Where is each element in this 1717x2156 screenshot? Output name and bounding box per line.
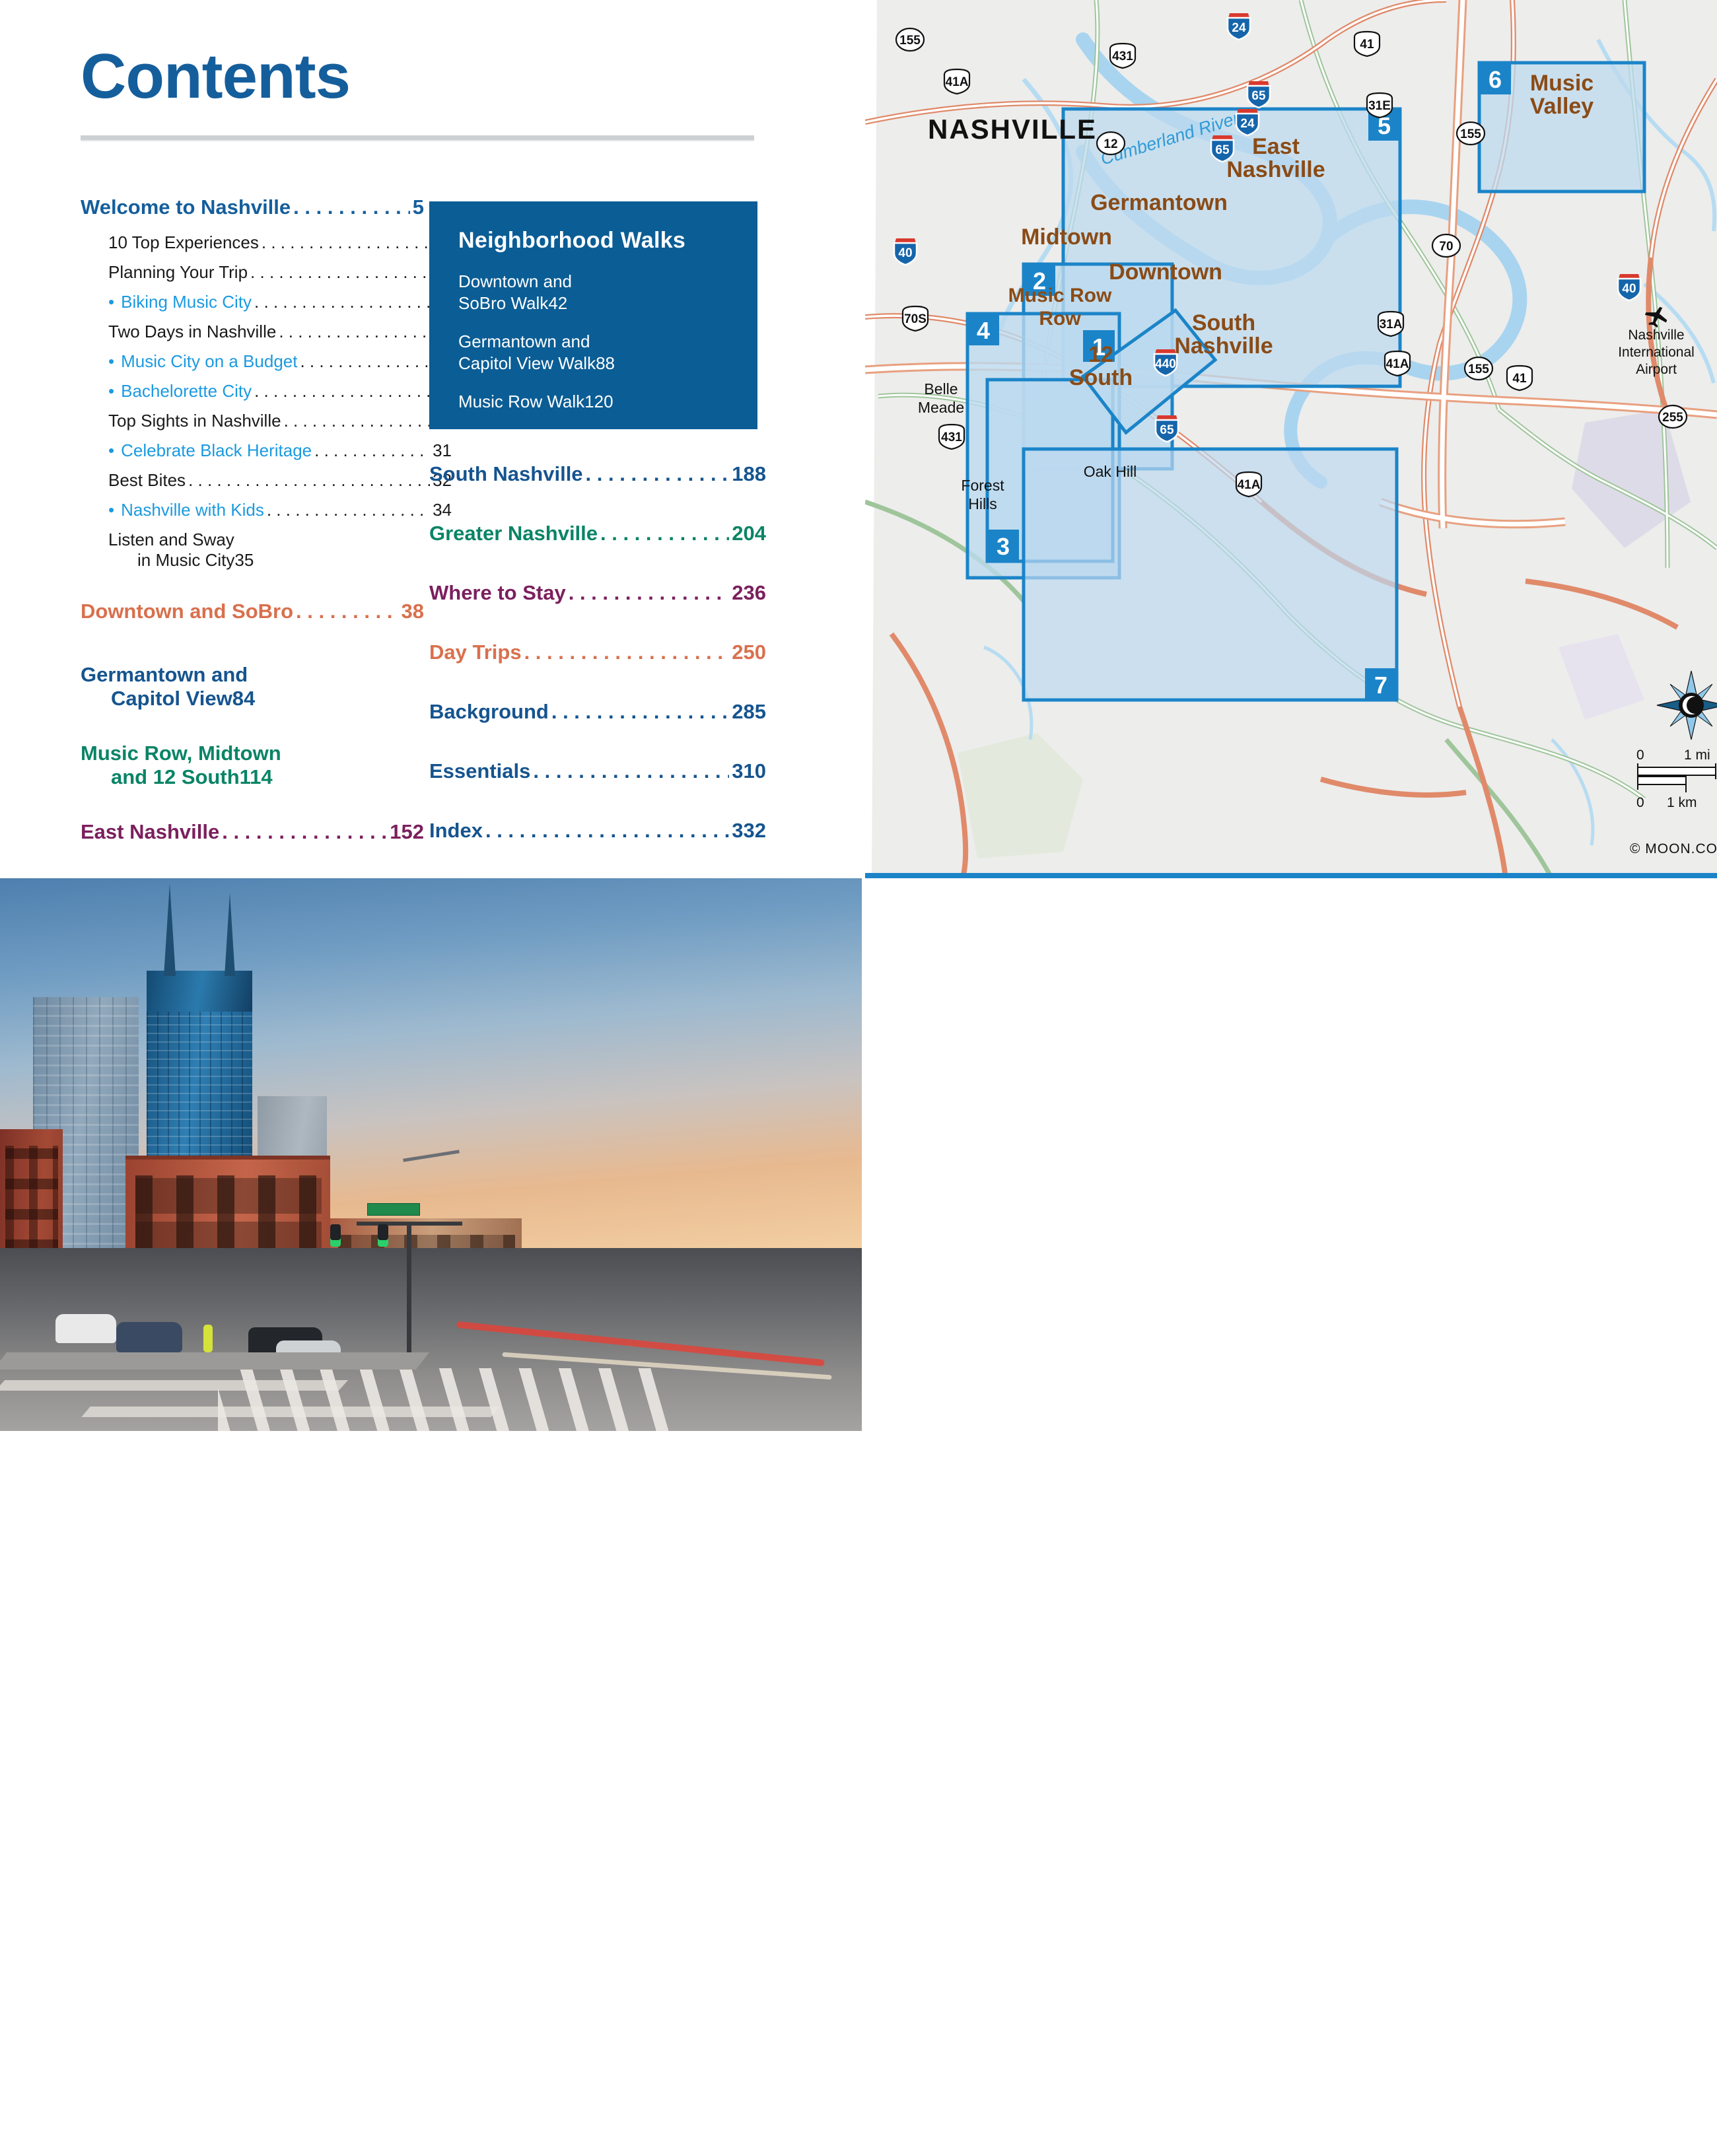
svg-text:431: 431 <box>941 431 962 444</box>
toc-entry-label: Essentials <box>429 759 530 783</box>
leader-dots <box>188 480 430 497</box>
toc-entry-major[interactable]: Essentials310 <box>429 759 766 792</box>
map-label-12south-2: South <box>1069 365 1133 390</box>
map-label-east-nashville-1: East <box>1252 134 1300 159</box>
spacer <box>429 618 766 641</box>
highway-shield-65: 65 <box>1156 415 1178 442</box>
leader-dots <box>267 510 430 527</box>
svg-text:155: 155 <box>899 34 921 48</box>
highway-shield-70S: 70S <box>903 306 928 331</box>
toc-entry-label: Welcome to Nashville <box>81 195 291 219</box>
att-building-top <box>147 971 252 1012</box>
traffic-light-green-2 <box>378 1224 388 1247</box>
toc-entry-page: 310 <box>732 759 766 783</box>
toc-entry-page: 35 <box>234 550 254 571</box>
spacer <box>81 637 424 663</box>
neighborhood-walks-list: Downtown andSoBro Walk42Germantown andCa… <box>429 271 757 413</box>
map-town-oak-hill: Oak Hill <box>1084 463 1137 480</box>
map-label-12south-1: 12 <box>1088 342 1113 367</box>
toc-entry-page: 332 <box>732 819 766 843</box>
toc-entry-major[interactable]: Germantown andCapitol View84 <box>81 663 424 711</box>
map-label-music-valley-1: Music <box>1530 71 1594 96</box>
toc-column-left: Welcome to Nashville510 Top Experiences7… <box>81 195 424 921</box>
highway-shield-40: 40 <box>894 238 917 265</box>
walk-page: 120 <box>584 391 613 413</box>
svg-text:40: 40 <box>1622 282 1636 296</box>
maps-index-panel: MAPS 1Downtownand SoBro40-412Germantowna… <box>862 878 1717 1431</box>
toc-entry-label: Bachelorette City <box>121 381 252 401</box>
svg-text:41A: 41A <box>1238 478 1261 492</box>
leader-dots <box>250 272 430 289</box>
highway-shield-12: 12 <box>1097 132 1125 155</box>
map-label-south-nashville-2: Nashville <box>1174 333 1273 359</box>
toc-entry-major[interactable]: Where to Stay236 <box>429 581 766 613</box>
toc-entry-label: Best Bites <box>108 470 186 491</box>
svg-text:65: 65 <box>1215 143 1230 157</box>
pedestrian <box>203 1325 213 1352</box>
highway-shield-40: 40 <box>1618 274 1640 300</box>
neighborhood-walks-title: Neighborhood Walks <box>429 201 757 254</box>
highway-shield-24: 24 <box>1236 109 1259 135</box>
toc-entry-label: Index <box>429 819 483 843</box>
toc-entry-label: Top Sights in Nashville <box>108 411 281 431</box>
leader-dots <box>279 331 430 349</box>
scale-zero-top: 0 <box>1636 748 1644 763</box>
toc-entry-label: Biking Music City <box>121 292 252 312</box>
svg-text:41A: 41A <box>946 75 969 89</box>
toc-entry-label-line2: and 12 South <box>111 765 240 789</box>
toc-entry-highlight[interactable]: •Nashville with Kids34 <box>81 500 452 527</box>
walk-page: 88 <box>596 353 615 374</box>
traffic-signal-pole <box>407 1222 411 1354</box>
spacer <box>429 737 766 759</box>
highway-shield-440: 440 <box>1154 349 1177 376</box>
svg-text:255: 255 <box>1662 411 1683 425</box>
highway-shield-31A: 31A <box>1378 312 1403 336</box>
toc-entry-label: 10 Top Experiences <box>108 232 259 253</box>
map-town-belle-meade-2: Meade <box>918 399 964 416</box>
svg-text:40: 40 <box>898 246 912 260</box>
toc-entry-major[interactable]: Background285 <box>429 700 766 732</box>
leader-dots <box>296 611 398 632</box>
toc-entry-page: 204 <box>732 522 766 545</box>
toc-entry-highlight[interactable]: •Biking Music City20 <box>81 292 452 319</box>
toc-entry-sub[interactable]: 10 Top Experiences7 <box>81 232 452 260</box>
walk-label-line1: Germantown and <box>458 331 738 353</box>
bullet-icon: • <box>108 292 114 312</box>
leader-dots <box>284 421 431 438</box>
toc-entry-label-line1: Music Row, Midtown <box>81 742 424 765</box>
spacer <box>429 678 766 700</box>
toc-entry-label: Day Trips <box>429 641 522 664</box>
map-label-music-valley-2: Valley <box>1530 94 1594 119</box>
toc-entry-page: 285 <box>732 700 766 724</box>
toc-entry-page: 31 <box>433 440 452 461</box>
att-spire-left <box>164 884 176 976</box>
leader-dots <box>300 361 430 378</box>
highway-shield-24: 24 <box>1228 13 1250 40</box>
map-label-music-row-2: Row <box>1039 308 1081 330</box>
leader-dots <box>293 207 410 228</box>
leader-dots <box>262 242 440 260</box>
map-label-south-nashville-1: South <box>1192 310 1255 335</box>
walk-label-line2: Capitol View Walk <box>458 353 596 374</box>
inset-number-6: 6 <box>1489 66 1502 93</box>
toc-entry-label: Where to Stay <box>429 581 566 605</box>
highway-shield-431: 431 <box>939 425 964 449</box>
toc-entry-page: 152 <box>390 820 424 844</box>
svg-text:12: 12 <box>1104 137 1117 151</box>
leader-dots <box>586 474 730 495</box>
sidewalk <box>0 1352 429 1370</box>
inset-box-7 <box>1024 449 1397 700</box>
bullet-icon: • <box>108 440 114 461</box>
walk-label-line2: SoBro Walk <box>458 293 548 314</box>
svg-text:41: 41 <box>1512 372 1527 386</box>
bullet-icon: • <box>108 351 114 372</box>
leader-dots <box>569 593 730 613</box>
spacer <box>81 715 424 742</box>
highway-shield-431: 431 <box>1110 44 1135 68</box>
toc-entry-sub[interactable]: Best Bites32 <box>81 470 452 497</box>
car-blue <box>116 1322 182 1352</box>
toc-entry-label: Music City on a Budget <box>121 351 297 372</box>
map-svg: 1 2 3 4 5 6 7 NASHVILLE Cumberland River… <box>865 0 1717 878</box>
bullet-icon: • <box>108 500 114 520</box>
toc-entry-page: 236 <box>732 581 766 605</box>
toc-entry-label: East Nashville <box>81 820 219 844</box>
highway-shield-155: 155 <box>896 28 924 51</box>
map-label-midtown: Midtown <box>1021 225 1112 250</box>
highway-shield-255: 255 <box>1659 405 1687 428</box>
leader-dots <box>485 831 729 851</box>
toc-entry-sub[interactable]: Top Sights in Nashville29 <box>81 411 452 438</box>
highway-shield-31E: 31E <box>1367 93 1392 118</box>
leader-dots <box>600 534 729 554</box>
toc-entry-label: South Nashville <box>429 462 583 486</box>
walk-label-line1: Downtown and <box>458 271 738 293</box>
toc-entry-label: Greater Nashville <box>429 522 598 545</box>
inset-number-7: 7 <box>1374 672 1387 699</box>
toc-entry-page: 250 <box>732 641 766 664</box>
inset-number-3: 3 <box>997 533 1010 560</box>
leader-dots <box>254 391 430 408</box>
highway-shield-65: 65 <box>1211 135 1234 162</box>
toc-entry-page: 114 <box>240 765 273 789</box>
page-title: Contents <box>81 45 350 108</box>
toc-entry-label: Two Days in Nashville <box>108 322 276 342</box>
svg-text:431: 431 <box>1112 50 1133 63</box>
highway-shield-41: 41 <box>1354 32 1380 56</box>
walk-page: 42 <box>548 293 567 314</box>
airport-label-2: International <box>1618 345 1695 360</box>
contents-page: Contents Welcome to Nashville510 Top Exp… <box>0 0 865 878</box>
street-name-sign <box>367 1203 420 1216</box>
toc-entry-label-line2: in Music City <box>137 550 234 571</box>
toc-entry-major[interactable]: Greater Nashville204 <box>429 522 766 554</box>
map-label-music-row-1: Music Row <box>1008 285 1112 306</box>
airport-label-1: Nashville <box>1628 328 1684 343</box>
nashville-overview-map[interactable]: 1 2 3 4 5 6 7 NASHVILLE Cumberland River… <box>865 0 1717 878</box>
scale-mi: 1 mi <box>1684 748 1710 763</box>
broadway-street-photo <box>0 878 862 1431</box>
toc-entry-major[interactable]: Day Trips250 <box>429 641 766 673</box>
toc-entry-major[interactable]: Index332 <box>429 819 766 851</box>
highway-shield-41A: 41A <box>1236 472 1261 497</box>
highway-shield-70: 70 <box>1432 234 1460 257</box>
toc-entry-sub[interactable]: Planning Your Trip16 <box>81 262 452 289</box>
toc-entry-label-line1: Germantown and <box>81 663 424 687</box>
toc-entry-page: 84 <box>232 687 255 711</box>
walk-entry[interactable]: Downtown andSoBro Walk42 <box>429 271 757 314</box>
svg-text:155: 155 <box>1460 127 1481 141</box>
car-white <box>55 1314 116 1343</box>
toc-entry-label: Downtown and SoBro <box>81 600 293 623</box>
map-city-label: NASHVILLE <box>928 114 1097 145</box>
svg-text:155: 155 <box>1468 363 1489 376</box>
scale-km: 1 km <box>1667 795 1697 810</box>
toc-entry-sub[interactable]: Listen and Swayin Music City35 <box>81 530 424 571</box>
svg-text:41A: 41A <box>1386 357 1409 371</box>
toc-entry-major[interactable]: Downtown and SoBro38 <box>81 600 424 632</box>
svg-text:24: 24 <box>1232 21 1246 35</box>
spacer <box>81 794 424 820</box>
spacer <box>429 559 766 581</box>
toc-entry-page: 188 <box>732 462 766 486</box>
spacer <box>429 796 766 819</box>
toc-entry-label: Background <box>429 700 549 724</box>
map-label-east-nashville-2: Nashville <box>1226 157 1325 182</box>
toc-entry-major[interactable]: East Nashville152 <box>81 820 424 852</box>
bullet-icon: • <box>108 381 114 401</box>
walk-entry[interactable]: Music Row Walk120 <box>429 391 757 413</box>
highway-shield-155: 155 <box>1465 357 1492 380</box>
svg-text:24: 24 <box>1240 117 1255 131</box>
toc-entry-highlight[interactable]: •Celebrate Black Heritage31 <box>81 440 452 468</box>
leader-dots <box>524 652 730 673</box>
svg-text:440: 440 <box>1155 357 1176 371</box>
leader-dots <box>533 771 729 792</box>
leader-dots <box>314 450 430 468</box>
map-label-downtown: Downtown <box>1109 260 1222 285</box>
svg-text:65: 65 <box>1251 89 1266 103</box>
neighborhood-walks-box: Neighborhood Walks Downtown andSoBro Wal… <box>429 201 757 429</box>
toc-entry-label: Celebrate Black Heritage <box>121 440 312 461</box>
toc-entry-label: Planning Your Trip <box>108 262 248 283</box>
svg-text:31A: 31A <box>1380 318 1403 331</box>
svg-text:70: 70 <box>1439 240 1453 254</box>
svg-text:31E: 31E <box>1368 99 1391 113</box>
toc-entry-major[interactable]: Music Row, Midtownand 12 South114 <box>81 742 424 789</box>
airport-label-3: Airport <box>1636 362 1677 377</box>
toc-column-right: South Nashville188Greater Nashville204Wh… <box>429 462 766 856</box>
traffic-signal-arm <box>357 1222 462 1226</box>
leader-dots <box>551 712 729 732</box>
map-town-forest-hills-1: Forest <box>961 477 1004 494</box>
svg-text:65: 65 <box>1160 423 1174 437</box>
spacer <box>429 499 766 522</box>
toc-entry-major[interactable]: South Nashville188 <box>429 462 766 495</box>
inset-number-4: 4 <box>977 317 990 344</box>
title-divider <box>81 135 754 141</box>
toc-entry-page: 38 <box>402 600 424 623</box>
walk-label-line2: Music Row Walk <box>458 391 584 413</box>
highway-shield-41: 41 <box>1507 366 1532 390</box>
map-label-germantown: Germantown <box>1090 190 1228 215</box>
toc-entry-label-line2: Capitol View <box>111 687 232 711</box>
highway-shield-41A: 41A <box>1385 351 1410 376</box>
toc-entry-label-line1: Listen and Sway <box>108 530 234 549</box>
scale-zero-bottom: 0 <box>1636 795 1644 810</box>
map-town-forest-hills-2: Hills <box>968 495 997 512</box>
svg-text:41: 41 <box>1360 38 1374 52</box>
att-spire-right <box>225 893 235 976</box>
map-credit: © MOON.COM <box>1630 841 1717 856</box>
toc-entry-page: 5 <box>413 195 424 219</box>
toc-entry-major[interactable]: Welcome to Nashville5 <box>81 195 424 228</box>
toc-entry-sub[interactable]: Two Days in Nashville23 <box>81 322 452 349</box>
map-town-belle-meade-1: Belle <box>924 380 958 398</box>
leader-dots <box>254 302 430 319</box>
map-bottom-rule <box>865 873 1717 878</box>
crosswalk-stripes <box>218 1368 674 1431</box>
toc-entry-highlight[interactable]: •Bachelorette City28 <box>81 381 452 408</box>
highway-shield-65: 65 <box>1247 81 1270 108</box>
traffic-light-green-1 <box>330 1224 341 1247</box>
walk-entry[interactable]: Germantown andCapitol View Walk88 <box>429 331 757 374</box>
svg-text:70S: 70S <box>904 312 927 326</box>
toc-entry-highlight[interactable]: •Music City on a Budget24 <box>81 351 452 378</box>
spacer <box>81 573 424 600</box>
highway-shield-155: 155 <box>1457 122 1485 145</box>
toc-entry-label: Nashville with Kids <box>121 500 264 520</box>
highway-shield-41A: 41A <box>944 69 969 94</box>
leader-dots <box>222 832 387 852</box>
